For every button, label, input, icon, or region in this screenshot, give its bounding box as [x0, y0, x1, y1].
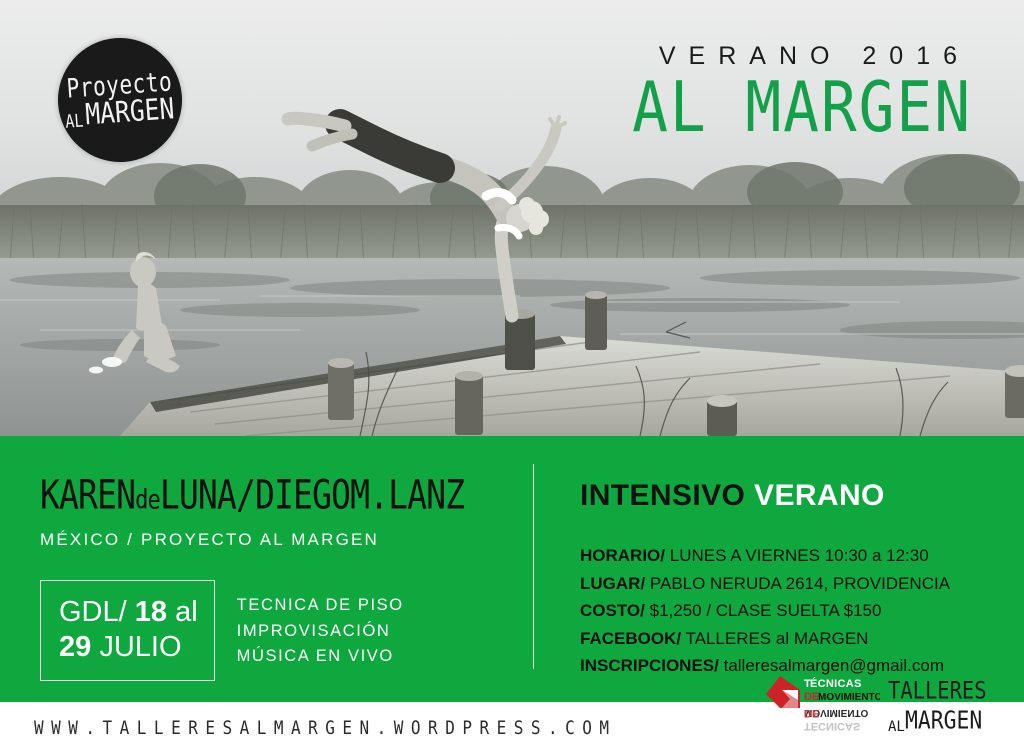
artist-name-3: M.LANZ — [350, 473, 464, 519]
detail-row-facebook: FACEBOOK/ TALLERES al MARGEN — [580, 625, 1000, 653]
tam-logo-line1: TALLERES — [888, 680, 987, 704]
tam-logo-al: AL — [888, 720, 905, 734]
artists-connector: de — [135, 484, 160, 515]
page-title: AL MARGEN — [632, 75, 972, 141]
workshop-heading-intensivo: INTENSIVO — [580, 479, 745, 512]
detail-value: LUNES A VIERNES 10:30 a 12:30 — [670, 546, 929, 565]
detail-value: $1,250 / CLASE SUELTA $150 — [650, 601, 882, 620]
title-block: VERANO 2016 AL MARGEN — [618, 42, 972, 134]
circle-logo-margen: MARGEN — [84, 94, 175, 129]
artists-origin: MÉXICO / PROYECTO AL MARGEN — [40, 530, 510, 550]
tam-logo-margen: MARGEN — [905, 709, 982, 734]
detail-label: FACEBOOK/ — [580, 629, 681, 648]
date-month: JULIO — [99, 631, 181, 663]
detail-label: LUGAR/ — [580, 574, 645, 593]
date-city: GDL/ — [59, 596, 127, 628]
date-conjunction: al — [175, 596, 198, 628]
talleres-al-margen-logo: TALLERES AL MARGEN — [888, 680, 994, 734]
detail-label: INSCRIPCIONES/ — [580, 656, 719, 675]
workshop-heading-verano: VERANO — [754, 479, 885, 512]
detail-label: HORARIO/ — [580, 546, 665, 565]
topic-item: IMPROVISACIÓN — [237, 619, 404, 645]
detail-value: TALLERES al MARGEN — [685, 629, 868, 648]
green-info-band: KARENdeLUNA/DIEGOM.LANZ MÉXICO / PROYECT… — [0, 436, 1024, 702]
artist-name-2: LUNA/DIEGO — [160, 473, 350, 519]
date-day-end: 29 — [59, 631, 91, 663]
workshop-details: HORARIO/ LUNES A VIERNES 10:30 a 12:30 L… — [580, 542, 1000, 680]
svg-text:DE: DE — [804, 707, 819, 719]
date-and-topics-row: GDL/ 18 al 29 JULIO TECNICA DE PISO IMPR… — [40, 580, 510, 681]
left-column: KARENdeLUNA/DIEGOM.LANZ MÉXICO / PROYECT… — [40, 476, 510, 681]
svg-text:ÉCNICAS: ÉCNICAS — [810, 677, 862, 690]
detail-label: COSTO/ — [580, 601, 645, 620]
svg-text:MOVIMIENTO: MOVIMIENTO — [818, 692, 880, 703]
contact-email[interactable]: talleresalmargen@gmail.com — [724, 656, 944, 675]
svg-text:TÉCNICAS: TÉCNICAS — [804, 720, 860, 732]
poster: Proyecto AL MARGEN VERANO 2016 AL MARGEN… — [0, 0, 1024, 756]
workshop-heading: INTENSIVO VERANO — [580, 481, 1000, 511]
date-day-start: 18 — [135, 596, 167, 628]
website-url[interactable]: WWW.TALLERESALMARGEN.WORDPRESS.COM — [34, 717, 617, 739]
right-column: INTENSIVO VERANO HORARIO/ LUNES A VIERNE… — [580, 481, 1000, 680]
column-divider — [533, 464, 534, 669]
detail-row-horario: HORARIO/ LUNES A VIERNES 10:30 a 12:30 — [580, 542, 1000, 570]
artist-name-1: KAREN — [40, 473, 135, 519]
detail-row-lugar: LUGAR/ PABLO NERUDA 2614, PROVIDENCIA — [580, 570, 1000, 598]
detail-value: PABLO NERUDA 2614, PROVIDENCIA — [650, 574, 950, 593]
circle-logo-al: AL — [65, 112, 84, 131]
artists-names: KARENdeLUNA/DIEGOM.LANZ — [40, 476, 472, 516]
topic-item: MÚSICA EN VIVO — [237, 644, 404, 670]
svg-text:DE: DE — [804, 691, 819, 703]
topic-item: TECNICA DE PISO — [237, 593, 404, 619]
tecnicas-de-movimiento-logo: T ÉCNICAS DE MOVIMIENTO MOVIMIENTO DE TÉ… — [760, 674, 880, 732]
tam-logo-line2: AL MARGEN — [888, 711, 994, 734]
dates-box: GDL/ 18 al 29 JULIO — [40, 580, 215, 681]
topics-list: TECNICA DE PISO IMPROVISACIÓN MÚSICA EN … — [237, 591, 404, 670]
detail-row-costo: COSTO/ $1,250 / CLASE SUELTA $150 — [580, 597, 1000, 625]
